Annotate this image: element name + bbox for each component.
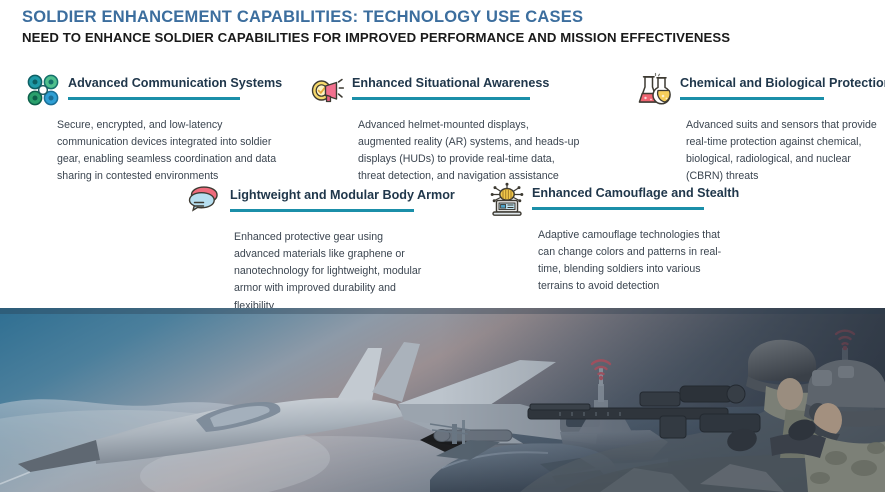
capability-card-enhanced-situational-awareness[interactable]: Enhanced Situational Awareness Advanced … <box>308 70 590 186</box>
card-description: Adaptive camouflage technologies that ca… <box>538 227 728 296</box>
military-operations-photo <box>0 308 885 492</box>
card-title: Enhanced Situational Awareness <box>352 76 549 90</box>
card-underline <box>68 97 240 100</box>
slide-root: SOLDIER ENHANCEMENT CAPABILITIES: TECHNO… <box>0 0 885 492</box>
card-description: Secure, encrypted, and low-latency commu… <box>57 117 295 186</box>
card-header: Chemical and Biological Protection <box>636 70 884 109</box>
card-description: Enhanced protective gear using advanced … <box>234 229 426 315</box>
card-heading-block: Enhanced Situational Awareness <box>352 70 549 100</box>
card-underline <box>230 209 414 212</box>
page-subtitle: NEED TO ENHANCE SOLDIER CAPABILITIES FOR… <box>22 30 862 46</box>
card-title: Chemical and Biological Protection <box>680 76 885 90</box>
capability-card-chemical-and-biological-protection[interactable]: Chemical and Biological Protection Advan… <box>636 70 884 186</box>
laptop-network-icon <box>488 181 526 219</box>
card-header: Enhanced Camouflage and Stealth <box>488 180 736 219</box>
card-header: Lightweight and Modular Body Armor <box>186 182 434 221</box>
speech-bubbles-icon <box>186 183 224 221</box>
card-description: Advanced suits and sensors that provide … <box>686 117 885 186</box>
megaphone-icon <box>308 71 346 109</box>
card-header: Advanced Communication Systems <box>24 70 292 109</box>
capability-card-lightweight-and-modular-body-armor[interactable]: Lightweight and Modular Body Armor Enhan… <box>186 182 434 315</box>
card-underline <box>352 97 530 100</box>
card-title: Advanced Communication Systems <box>68 76 282 90</box>
capability-card-enhanced-camouflage-and-stealth[interactable]: Enhanced Camouflage and Stealth Adaptive… <box>488 180 736 296</box>
header: SOLDIER ENHANCEMENT CAPABILITIES: TECHNO… <box>22 8 862 46</box>
card-underline <box>532 207 704 210</box>
network-nodes-icon <box>24 71 62 109</box>
card-header: Enhanced Situational Awareness <box>308 70 590 109</box>
card-underline <box>680 97 824 100</box>
capability-card-advanced-communication-systems[interactable]: Advanced Communication Systems Secure, e… <box>24 70 292 186</box>
card-heading-block: Enhanced Camouflage and Stealth <box>532 180 739 210</box>
page-title: SOLDIER ENHANCEMENT CAPABILITIES: TECHNO… <box>22 8 862 27</box>
card-title: Lightweight and Modular Body Armor <box>230 188 455 202</box>
card-heading-block: Advanced Communication Systems <box>68 70 282 100</box>
card-title: Enhanced Camouflage and Stealth <box>532 186 739 200</box>
lab-flasks-icon <box>636 71 674 109</box>
card-heading-block: Lightweight and Modular Body Armor <box>230 182 455 212</box>
card-heading-block: Chemical and Biological Protection <box>680 70 885 100</box>
card-description: Advanced helmet-mounted displays, augmen… <box>358 117 584 186</box>
